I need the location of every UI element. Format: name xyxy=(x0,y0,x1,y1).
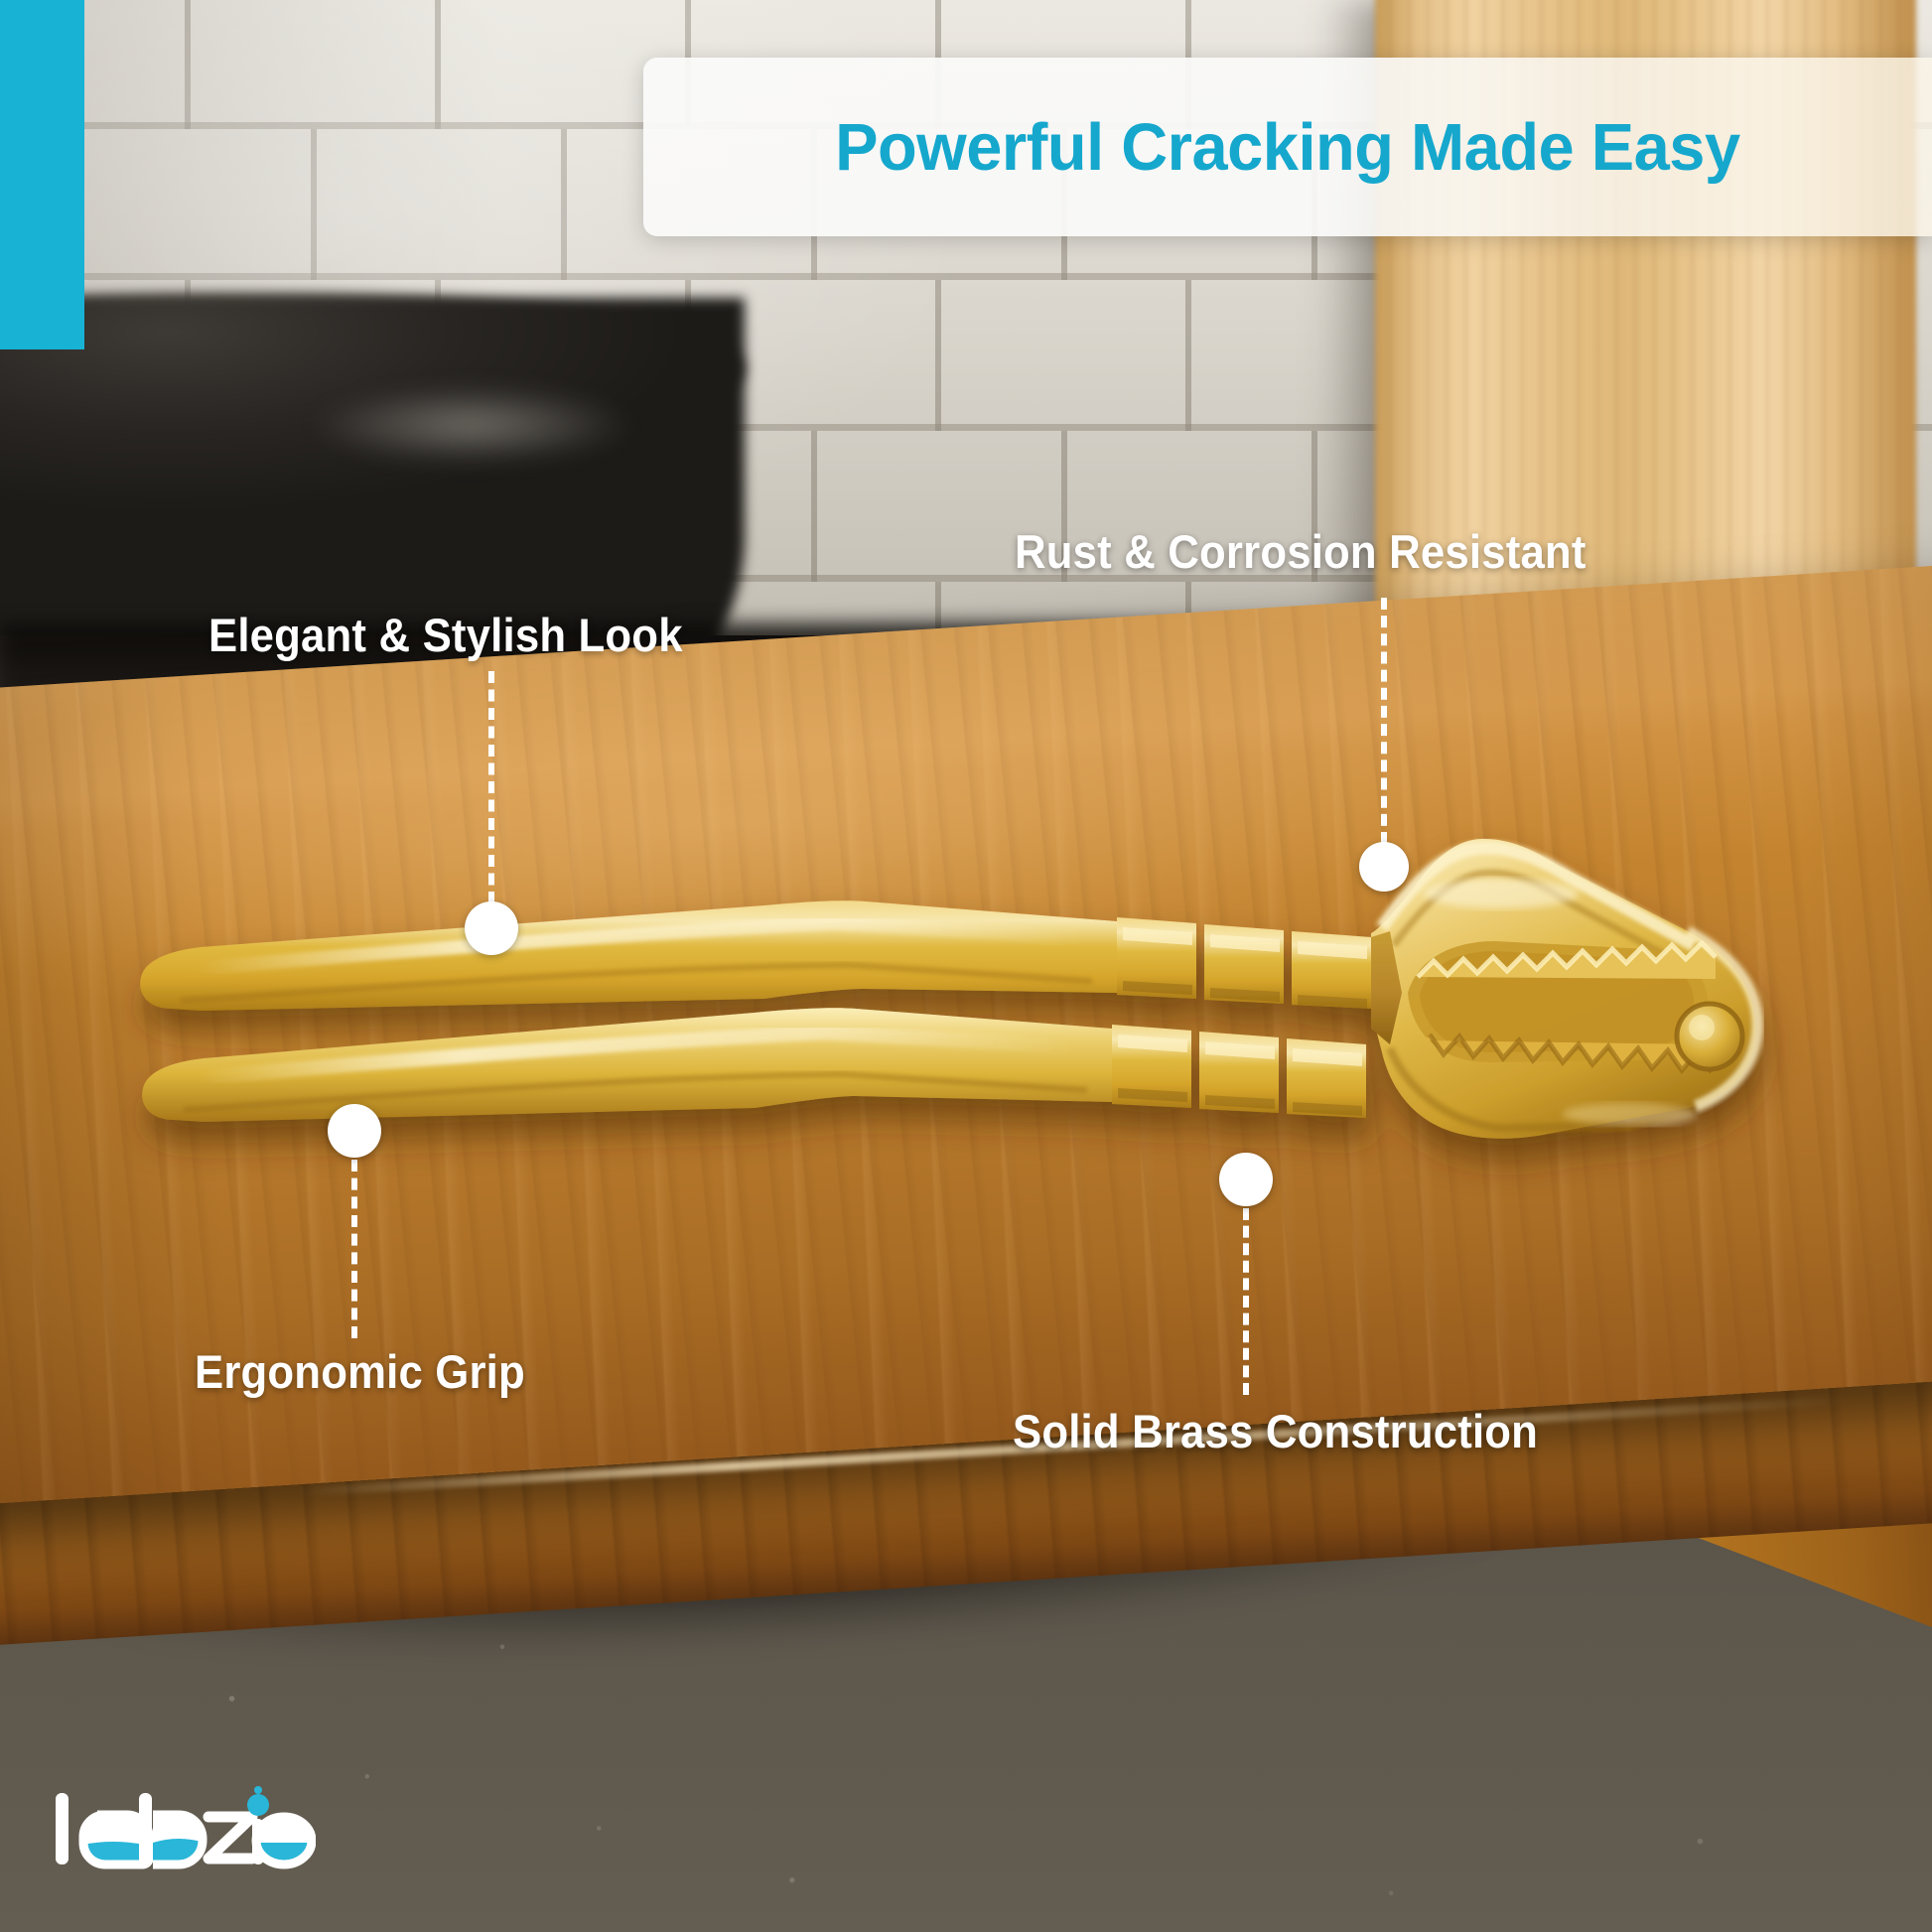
bowl-highlight xyxy=(308,385,635,465)
logo-letter-l xyxy=(56,1793,69,1864)
header-banner: Powerful Cracking Made Easy xyxy=(643,58,1932,236)
callout-label-ergonomic: Ergonomic Grip xyxy=(195,1344,525,1399)
labzio-logo xyxy=(48,1785,316,1876)
kitchen-scene-photo xyxy=(0,0,1932,1932)
callout-label-elegant: Elegant & Stylish Look xyxy=(208,608,683,662)
callout-line-brass xyxy=(1243,1208,1249,1395)
callout-line-rust xyxy=(1381,598,1387,844)
callout-dot-ergonomic xyxy=(328,1104,381,1158)
callout-dot-elegant xyxy=(465,901,518,955)
callout-label-brass: Solid Brass Construction xyxy=(1013,1404,1538,1458)
logo-letter-o xyxy=(254,1815,316,1868)
logo-droplet-icon xyxy=(247,1794,269,1816)
logo-letter-b xyxy=(139,1793,210,1868)
callout-line-elegant xyxy=(488,671,494,903)
infographic-canvas: Powerful Cracking Made Easy Rust & Corro… xyxy=(0,0,1932,1932)
callout-dot-brass xyxy=(1219,1153,1273,1206)
callout-line-ergonomic xyxy=(351,1160,357,1338)
brand-accent-bar xyxy=(0,0,84,349)
callout-label-rust: Rust & Corrosion Resistant xyxy=(1015,524,1587,579)
logo-letter-z xyxy=(208,1817,252,1859)
callout-dot-rust xyxy=(1359,842,1409,892)
page-title: Powerful Cracking Made Easy xyxy=(835,109,1740,186)
